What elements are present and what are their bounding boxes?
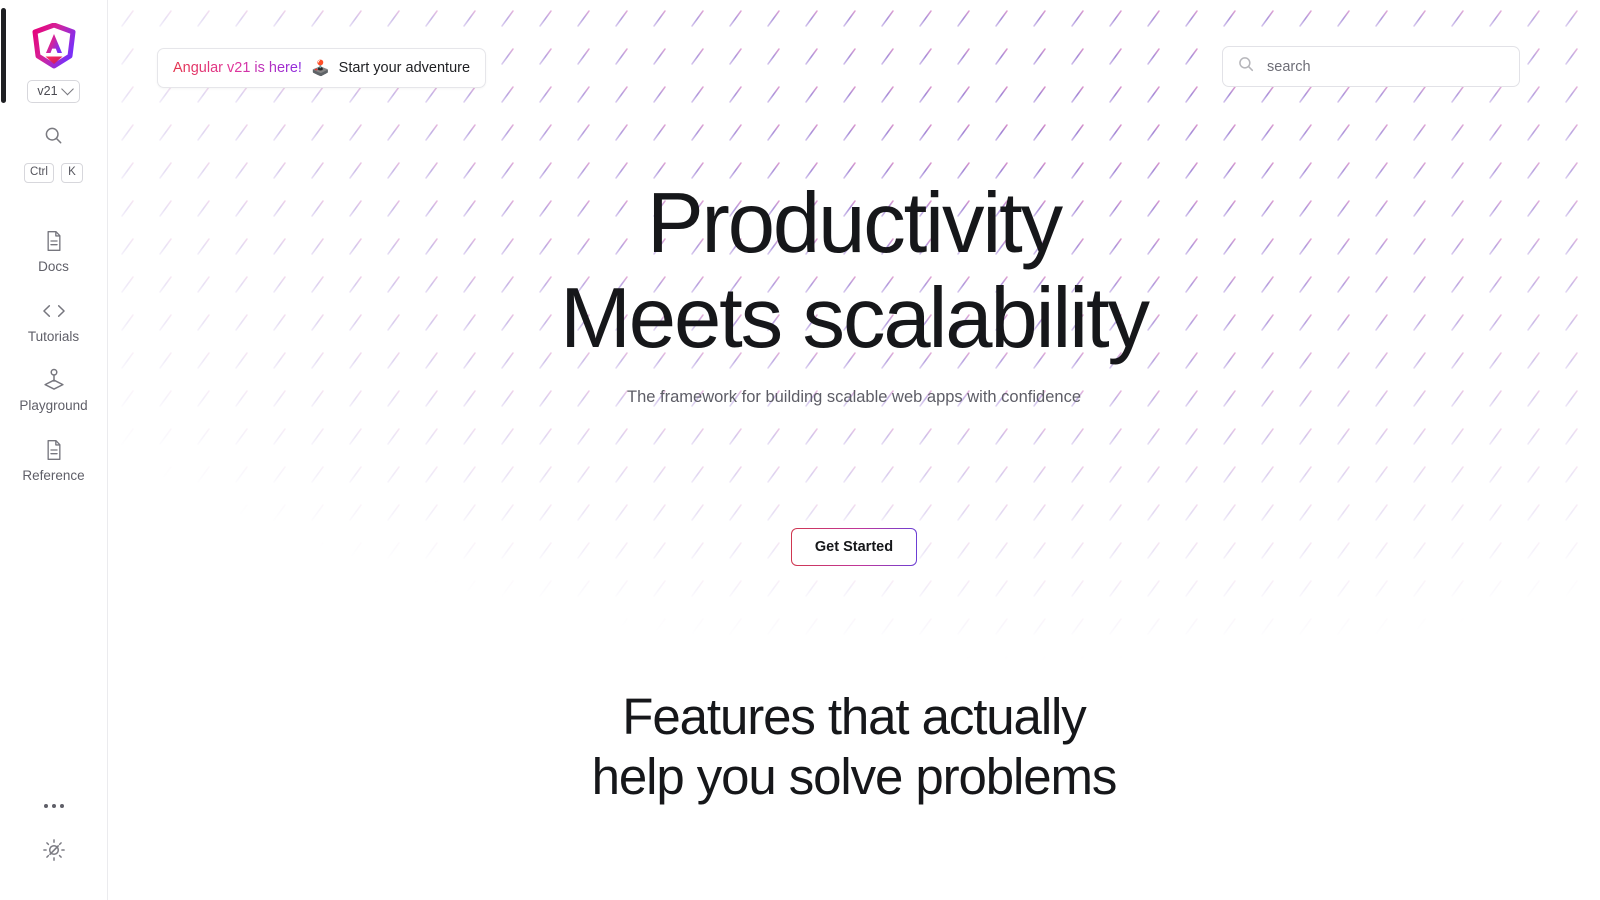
sidebar-bottom-actions — [38, 798, 70, 866]
sidebar-item-reference[interactable]: Reference — [0, 426, 107, 496]
sidebar-item-label: Reference — [22, 469, 84, 483]
hero-title: Productivity Meets scalability — [108, 176, 1600, 366]
document-icon — [44, 230, 64, 252]
version-selector[interactable]: v21 — [27, 80, 79, 103]
version-label: v21 — [37, 85, 57, 98]
sidebar-item-label: Tutorials — [28, 330, 79, 344]
page-scrollbar[interactable] — [0, 0, 7, 900]
hero-subtitle: The framework for building scalable web … — [108, 388, 1600, 407]
angular-docs-homepage: v21 Ctrl K — [0, 0, 1600, 900]
search-input[interactable] — [1267, 59, 1505, 75]
features-heading-line-1: Features that actually — [622, 688, 1085, 745]
hero-cta-wrap: Get Started — [108, 528, 1600, 566]
joystick-icon — [42, 369, 66, 391]
get-started-button[interactable]: Get Started — [791, 528, 917, 566]
features-heading: Features that actually help you solve pr… — [108, 687, 1600, 806]
scrollbar-thumb[interactable] — [1, 8, 6, 103]
features-heading-line-2: help you solve problems — [108, 747, 1600, 807]
announcement-highlight: Angular v21 is here! — [173, 60, 302, 76]
ellipsis-icon[interactable] — [38, 798, 70, 814]
hero-title-line-2: Meets scalability — [108, 271, 1600, 366]
announcement-cta-label: Start your adventure — [339, 60, 470, 76]
sidebar-nav: Docs Tutorials — [0, 217, 107, 495]
search-icon — [1237, 55, 1255, 78]
joystick-icon: 🕹️ — [311, 61, 330, 76]
sidebar-item-playground[interactable]: Playground — [0, 356, 107, 426]
chevron-down-icon — [61, 83, 74, 96]
search-icon — [43, 125, 64, 151]
brightness-sun-icon[interactable] — [38, 834, 70, 866]
features-section: Features that actually help you solve pr… — [108, 687, 1600, 806]
hero-title-line-1: Productivity — [647, 176, 1061, 271]
announcement-banner[interactable]: Angular v21 is here! 🕹️ Start your adven… — [157, 48, 486, 88]
search-box[interactable] — [1222, 46, 1520, 87]
code-brackets-icon — [41, 300, 67, 322]
sidebar-search-button[interactable]: Ctrl K — [24, 125, 83, 183]
key-ctrl: Ctrl — [24, 163, 54, 183]
angular-logo[interactable] — [31, 22, 77, 70]
key-k: K — [61, 163, 83, 183]
sidebar-item-label: Docs — [38, 260, 69, 274]
sidebar-item-docs[interactable]: Docs — [0, 217, 107, 287]
main-content: Angular v21 is here! 🕹️ Start your adven… — [108, 0, 1600, 900]
search-keyboard-shortcut: Ctrl K — [24, 163, 83, 183]
document-icon — [44, 439, 64, 461]
hero-section: Productivity Meets scalability The frame… — [108, 176, 1600, 566]
sidebar-item-label: Playground — [19, 399, 87, 413]
sidebar-item-tutorials[interactable]: Tutorials — [0, 287, 107, 357]
primary-sidebar: v21 Ctrl K — [0, 0, 108, 900]
